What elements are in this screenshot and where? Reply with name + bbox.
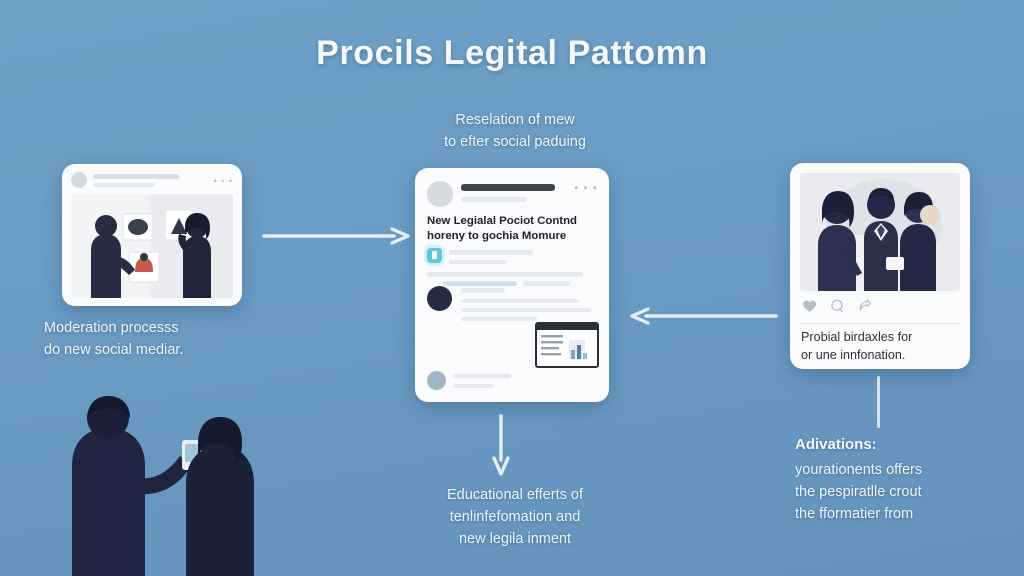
annotations-body: yourationents offers the pespiratlle cro… — [795, 460, 1005, 525]
author-handle-bar — [461, 197, 527, 202]
comment-icon[interactable] — [830, 299, 844, 313]
review-scene-svg — [71, 194, 233, 298]
comment-bar-1 — [461, 288, 505, 293]
footer-bar-1 — [453, 374, 511, 378]
arrow-left-to-center — [262, 227, 412, 245]
social-post-card[interactable]: • • • New Legialal Pociot Contnd horeny … — [415, 168, 609, 402]
annotations-heading: Adivations: — [795, 436, 1000, 453]
more-options-icon[interactable]: • • • — [214, 176, 233, 186]
card-header: • • • — [71, 172, 233, 190]
comment-bar-2 — [461, 299, 579, 303]
more-options-icon[interactable]: • • • — [574, 183, 598, 194]
commenter-avatar — [427, 286, 452, 311]
footer-avatar — [427, 371, 446, 390]
post-headline: New Legialal Pociot Contnd horeny to goc… — [427, 214, 598, 244]
post-action-icons — [802, 299, 871, 313]
discussion-scene-svg — [800, 173, 960, 291]
body-bar-1 — [427, 272, 583, 277]
meta-bar-1 — [449, 250, 533, 255]
moderation-illustration — [71, 194, 233, 298]
share-icon[interactable] — [857, 299, 871, 313]
avatar — [427, 181, 453, 207]
name-bar — [93, 174, 179, 179]
arrow-center-down — [492, 414, 510, 476]
subtitle-bar — [93, 183, 155, 187]
right-vertical-connector — [877, 376, 880, 428]
page-title: Procils Legital Pattomn — [0, 34, 1024, 73]
footer-bar-2 — [453, 384, 493, 388]
caption-bottom: Educational efferts of tenlinfefomation … — [382, 485, 648, 550]
foreground-silhouettes — [60, 392, 270, 576]
divider — [800, 323, 960, 324]
comment-bar-3 — [461, 308, 591, 312]
meta-bar-2 — [449, 260, 507, 264]
arrow-right-to-center — [628, 307, 778, 325]
moderation-review-card[interactable]: • • • — [62, 164, 242, 306]
author-name-bar — [461, 184, 555, 191]
heart-icon[interactable] — [802, 299, 817, 313]
avatar — [71, 172, 87, 188]
comment-bar-4 — [461, 317, 537, 321]
body-bar-2 — [443, 281, 517, 286]
chart-thumbnail[interactable] — [535, 322, 599, 368]
card-caption-right: Probial birdaxles for or une innfonation… — [801, 329, 961, 365]
discussion-illustration — [800, 173, 960, 291]
verified-badge-icon — [427, 248, 442, 263]
social-engagement-card[interactable]: Probial birdaxles for or une innfonation… — [790, 163, 970, 369]
infographic-canvas: Procils Legital Pattomn Reselation of me… — [0, 0, 1024, 576]
thumbnail-chart-svg — [537, 330, 597, 368]
caption-left: Moderation processs do new social mediar… — [44, 318, 274, 362]
body-bar-3 — [523, 281, 571, 286]
caption-top: Reselation of mew to efter social paduin… — [382, 110, 648, 154]
